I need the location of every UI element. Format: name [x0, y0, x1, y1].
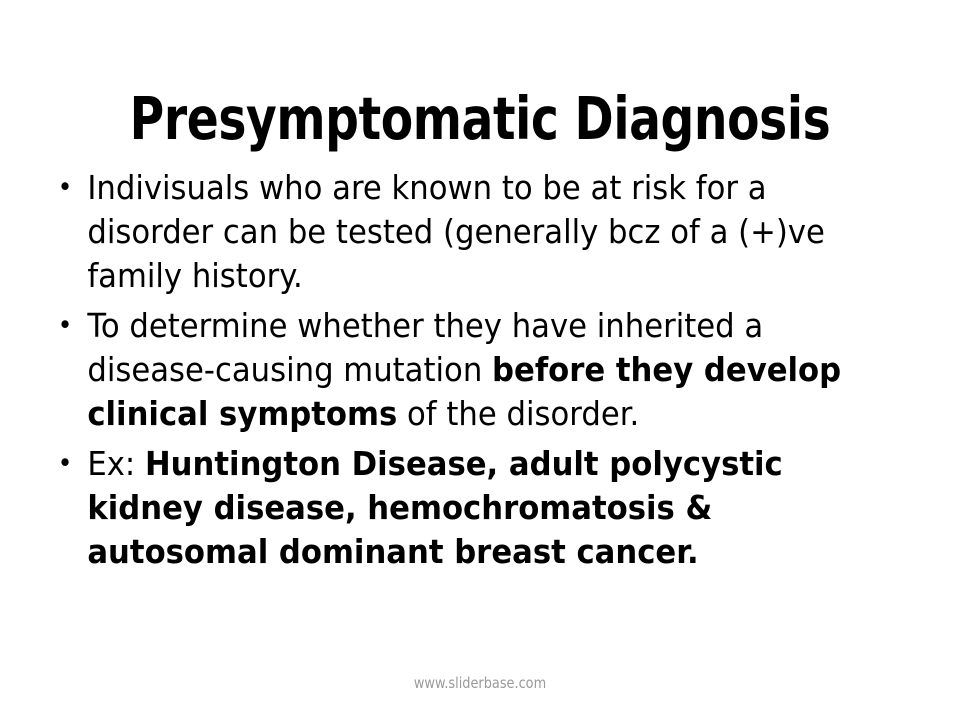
bullet-text: Ex: Huntington Disease, adult polycystic… — [87, 444, 782, 571]
text-run-regular: Indivisuals who are known to be at risk … — [87, 168, 825, 295]
bullet-text: To determine whether they have inherited… — [87, 306, 841, 433]
text-run-regular: Ex: — [87, 444, 145, 483]
bullet-dot-icon: • — [58, 304, 73, 348]
bullet-list: •Indivisuals who are known to be at risk… — [52, 166, 932, 580]
bullet-dot-icon: • — [58, 166, 73, 210]
slide-title: Presymptomatic Diagnosis — [96, 88, 864, 150]
text-run-bold: Huntington Disease, adult polycystic kid… — [87, 444, 782, 571]
bullet-text: Indivisuals who are known to be at risk … — [87, 168, 825, 295]
bullet-item: •Ex: Huntington Disease, adult polycysti… — [52, 442, 870, 574]
presentation-slide: Presymptomatic Diagnosis •Indivisuals wh… — [0, 0, 960, 720]
bullet-item: •Indivisuals who are known to be at risk… — [52, 166, 870, 298]
text-run-regular: of the disorder. — [397, 394, 639, 433]
bullet-dot-icon: • — [58, 442, 73, 486]
bullet-item: •To determine whether they have inherite… — [52, 304, 870, 436]
footer-watermark: www.sliderbase.com — [67, 674, 893, 692]
